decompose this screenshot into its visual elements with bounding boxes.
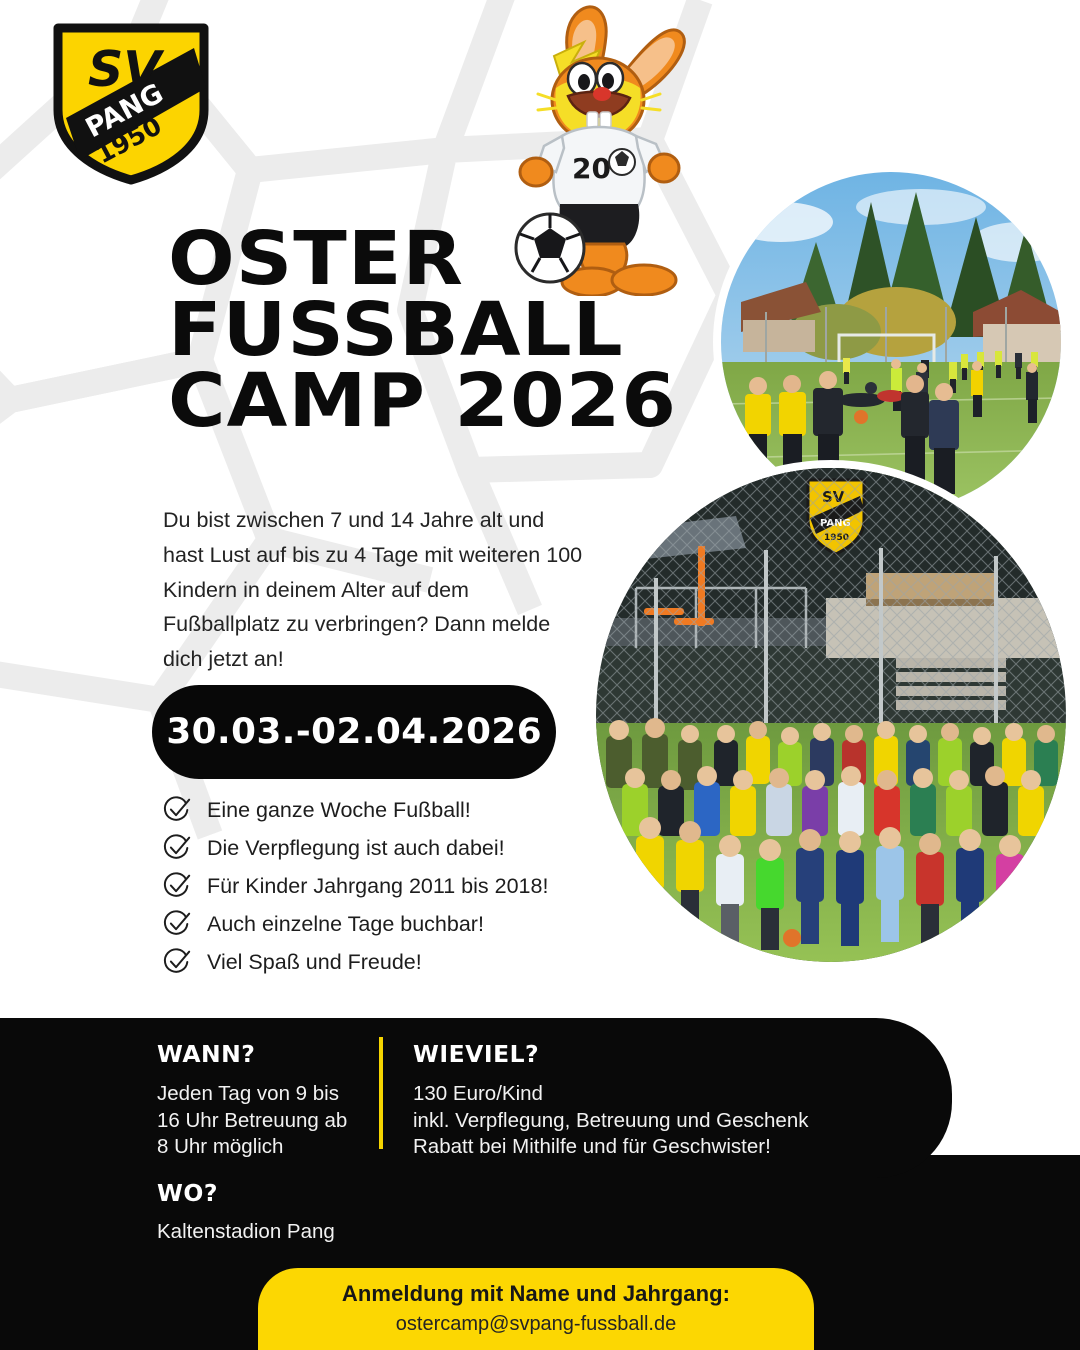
- info-body-wieviel: 130 Euro/Kind inkl. Verpflegung, Betreuu…: [413, 1081, 913, 1161]
- intro-paragraph: Du bist zwischen 7 und 14 Jahre alt und …: [163, 503, 583, 677]
- registration-cta[interactable]: Anmeldung mit Name und Jahrgang: osterca…: [258, 1268, 814, 1350]
- group-photo: SV PANG 1950: [596, 468, 1066, 962]
- training-session-photo: [721, 172, 1061, 512]
- check-circle-icon: [162, 833, 192, 863]
- list-item: Auch einzelne Tage buchbar!: [162, 906, 548, 942]
- wieviel-line-1: 130 Euro/Kind: [413, 1081, 913, 1108]
- svg-text:20: 20: [572, 152, 611, 185]
- registration-email[interactable]: ostercamp@svpang-fussball.de: [258, 1313, 814, 1336]
- info-columns: WANN? Jeden Tag von 9 bis 16 Uhr Betreuu…: [0, 1018, 1080, 1178]
- wann-line-1: Jeden Tag von 9 bis: [157, 1081, 372, 1108]
- list-item-label: Für Kinder Jahrgang 2011 bis 2018!: [207, 874, 548, 899]
- check-circle-icon: [162, 871, 192, 901]
- list-item-label: Auch einzelne Tage buchbar!: [207, 912, 484, 937]
- poster-root: SV PANG 1950: [0, 0, 1080, 1350]
- list-item-label: Viel Spaß und Freude!: [207, 950, 422, 975]
- check-circle-icon: [162, 795, 192, 825]
- easter-bunny-mascot: 20: [494, 0, 694, 296]
- list-item-label: Die Verpflegung ist auch dabei!: [207, 836, 505, 861]
- info-body-wo: Kaltenstadion Pang: [157, 1220, 335, 1245]
- list-item: Eine ganze Woche Fußball!: [162, 792, 548, 828]
- list-item: Die Verpflegung ist auch dabei!: [162, 830, 548, 866]
- wann-line-3: 8 Uhr möglich: [157, 1134, 372, 1161]
- date-badge: 30.03.-02.04.2026: [152, 685, 556, 779]
- title-line-3: CAMP 2026: [168, 366, 677, 437]
- feature-list: Eine ganze Woche Fußball! Die Verpflegun…: [162, 792, 548, 982]
- check-circle-icon: [162, 947, 192, 977]
- title-line-2: FUSSBALL: [168, 295, 677, 366]
- list-item: Für Kinder Jahrgang 2011 bis 2018!: [162, 868, 548, 904]
- check-circle-icon: [162, 909, 192, 939]
- list-item-label: Eine ganze Woche Fußball!: [207, 798, 471, 823]
- wo-line-1: Kaltenstadion Pang: [157, 1220, 335, 1245]
- info-body-wann: Jeden Tag von 9 bis 16 Uhr Betreuung ab …: [157, 1081, 372, 1161]
- info-block-wann: WANN? Jeden Tag von 9 bis 16 Uhr Betreuu…: [157, 1042, 372, 1161]
- date-badge-label: 30.03.-02.04.2026: [166, 712, 542, 752]
- info-block-wo: WO? Kaltenstadion Pang: [157, 1181, 335, 1245]
- info-block-wieviel: WIEVIEL? 130 Euro/Kind inkl. Verpflegung…: [413, 1042, 913, 1161]
- info-heading-wo: WO?: [157, 1181, 338, 1207]
- wieviel-line-2: inkl. Verpflegung, Betreuung und Geschen…: [413, 1108, 913, 1135]
- info-heading-wann: WANN?: [157, 1042, 376, 1068]
- list-item: Viel Spaß und Freude!: [162, 944, 548, 980]
- info-heading-wieviel: WIEVIEL?: [413, 1042, 923, 1068]
- sv-pang-crest-logo: SV PANG 1950: [44, 14, 218, 186]
- wieviel-line-3: Rabatt bei Mithilfe und für Geschwister!: [413, 1134, 913, 1161]
- wann-line-2: 16 Uhr Betreuung ab: [157, 1108, 372, 1135]
- registration-title: Anmeldung mit Name und Jahrgang:: [258, 1281, 814, 1307]
